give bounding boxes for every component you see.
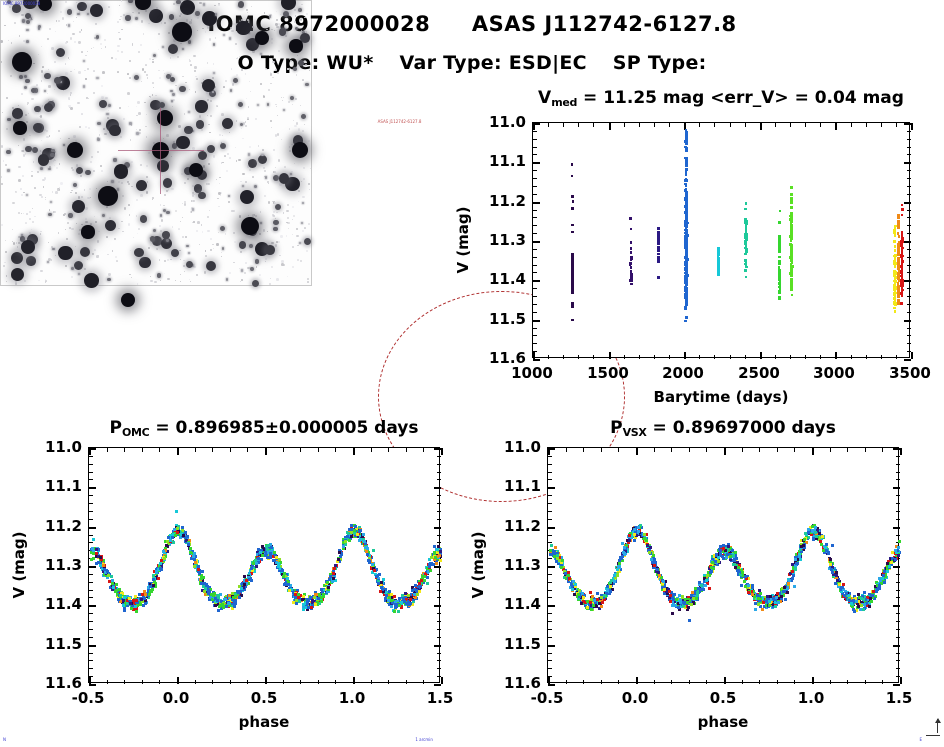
background-noise [221,162,223,164]
background-noise [42,11,44,13]
background-noise [184,271,185,272]
background-noise [276,212,277,213]
background-noise [298,128,300,130]
field-star [213,72,215,74]
background-noise [301,181,302,182]
background-noise [278,159,280,161]
background-noise [240,181,242,183]
background-noise [233,232,234,233]
field-star [166,211,169,214]
background-noise [127,92,130,95]
background-noise [264,12,266,14]
background-noise [141,20,143,22]
field-star [12,108,22,118]
background-noise [181,173,183,175]
background-noise [141,81,142,82]
background-noise [148,23,150,25]
background-noise [249,169,251,171]
background-noise [42,66,44,68]
background-noise [270,73,272,75]
field-star [38,154,49,165]
background-noise [164,73,165,74]
background-noise [23,154,26,157]
field-star [26,194,28,196]
field-star [160,214,163,217]
background-noise [218,206,220,208]
field-star [47,261,49,263]
background-noise [283,212,284,213]
background-noise [178,228,180,230]
background-noise [207,99,209,101]
field-star [58,246,73,261]
background-noise [128,204,130,206]
background-noise [306,13,307,14]
background-noise [287,68,288,69]
background-noise [119,107,121,109]
background-noise [78,71,81,74]
field-star [108,104,111,107]
background-noise [15,191,17,193]
background-noise [307,278,309,280]
field-star [302,202,304,204]
background-noise [130,250,131,251]
background-noise [23,40,25,42]
background-noise [289,128,290,129]
background-noise [121,0,123,2]
background-noise [245,125,247,127]
background-noise [158,33,160,35]
background-noise [123,118,124,119]
background-noise [18,105,19,106]
field-star [223,34,225,36]
background-noise [164,260,166,262]
background-noise [106,236,108,238]
background-noise [46,130,48,132]
background-noise [90,197,91,198]
background-noise [292,246,294,248]
background-noise [33,63,34,64]
field-star [213,43,216,46]
background-noise [161,219,163,221]
background-noise [60,182,62,184]
background-noise [146,165,148,167]
background-noise [118,181,120,183]
background-noise [197,30,198,31]
background-noise [149,58,151,60]
field-star [206,261,216,271]
field-star [85,170,91,176]
background-noise [23,138,25,140]
background-noise [184,203,187,206]
background-noise [180,274,181,275]
background-noise [217,106,218,107]
background-noise [278,23,280,25]
background-noise [101,85,103,87]
background-noise [246,9,247,10]
background-noise [84,268,86,270]
background-noise [154,281,156,283]
field-star [56,48,65,57]
background-noise [152,82,154,84]
background-noise [3,265,5,267]
field-star [293,67,297,71]
background-noise [205,255,207,257]
background-noise [78,196,80,198]
background-noise [216,179,217,180]
field-star [96,35,100,39]
background-noise [183,260,185,262]
background-noise [225,233,227,235]
background-noise [159,259,161,261]
background-noise [199,115,202,118]
background-noise [85,218,87,220]
background-noise [207,216,209,218]
background-noise [212,244,214,246]
background-noise [281,139,282,140]
background-noise [201,129,203,131]
background-noise [298,201,299,202]
background-noise [303,167,305,169]
field-star [301,114,306,119]
background-noise [136,215,138,217]
field-star [7,169,9,171]
background-noise [54,165,55,166]
background-noise [21,14,23,16]
background-noise [45,197,46,198]
field-star [249,244,253,248]
background-noise [277,115,278,116]
field-star [135,17,138,20]
field-star [198,151,207,160]
background-noise [189,89,190,90]
background-noise [124,207,126,209]
field-star [241,269,243,271]
background-noise [68,97,70,99]
background-noise [191,200,192,201]
background-noise [26,213,28,215]
background-noise [235,43,237,45]
background-noise [59,163,61,165]
background-noise [9,6,11,8]
background-noise [76,187,77,188]
background-noise [48,69,49,70]
background-noise [87,68,89,70]
background-noise [132,12,134,14]
background-noise [267,69,268,70]
background-noise [270,278,271,279]
field-star [260,222,262,224]
background-noise [210,249,211,250]
field-star [97,122,100,125]
background-noise [260,83,262,85]
background-noise [4,262,5,263]
background-noise [122,195,124,197]
background-noise [177,56,179,58]
field-star [157,160,169,172]
background-noise [100,43,102,45]
background-noise [286,210,288,212]
background-noise [31,98,33,100]
background-noise [28,113,29,114]
background-noise [51,47,54,50]
background-noise [186,19,188,21]
field-star [238,102,243,107]
background-noise [164,194,166,196]
background-noise [296,74,298,76]
background-noise [118,32,119,33]
background-noise [127,181,128,182]
background-noise [276,26,279,29]
field-star [38,25,41,28]
field-star [283,109,285,111]
background-noise [267,231,269,233]
background-noise [259,233,261,235]
background-noise [128,106,129,107]
background-noise [301,4,303,6]
background-noise [265,261,266,262]
background-noise [269,55,270,56]
background-noise [5,240,6,241]
field-star [195,100,207,112]
background-noise [146,74,148,76]
background-noise [250,91,251,92]
background-noise [152,61,154,63]
background-noise [12,202,14,204]
bright-star [289,39,302,52]
background-noise [34,216,35,217]
field-star [250,267,254,271]
background-noise [247,117,249,119]
background-noise [235,147,236,148]
background-noise [208,124,210,126]
background-noise [48,242,49,243]
background-noise [76,223,77,224]
background-noise [95,221,97,223]
background-noise [275,167,276,168]
background-noise [117,50,119,52]
background-noise [207,230,209,232]
field-star [90,4,103,17]
background-noise [274,30,275,31]
field-star [301,222,303,224]
field-star [96,77,98,79]
background-noise [47,93,48,94]
field-star [71,267,74,270]
background-noise [146,136,147,137]
background-noise [191,211,193,213]
background-noise [172,226,173,227]
background-noise [209,38,211,40]
field-star [252,280,259,286]
background-noise [194,66,196,68]
background-noise [196,230,199,233]
background-noise [207,26,209,28]
background-noise [214,5,215,6]
background-noise [298,190,300,192]
background-noise [218,192,220,194]
background-noise [150,245,151,246]
background-noise [29,218,31,220]
background-noise [20,188,22,190]
background-noise [292,266,294,268]
background-noise [107,254,109,256]
background-noise [175,210,177,212]
background-noise [99,134,101,136]
background-noise [220,195,221,196]
background-noise [271,127,272,128]
background-noise [101,96,103,98]
background-noise [145,126,147,128]
background-noise [287,276,288,277]
background-noise [271,242,273,244]
bright-star [67,142,83,158]
field-star [273,220,278,225]
background-noise [1,183,3,185]
background-noise [167,278,169,280]
background-noise [56,20,57,21]
field-star [242,185,244,187]
background-noise [148,247,150,249]
background-noise [130,139,132,141]
background-noise [120,16,122,18]
background-noise [277,133,279,135]
background-noise [251,6,252,7]
background-noise [138,51,140,53]
background-noise [234,241,236,243]
background-noise [118,228,120,230]
background-noise [94,249,96,251]
background-noise [74,41,76,43]
background-noise [302,79,304,81]
field-star [136,132,138,134]
background-noise [87,51,89,53]
field-star [179,86,185,92]
field-star [283,11,289,17]
field-star [106,113,108,115]
background-noise [73,135,75,137]
background-noise [18,166,20,168]
background-noise [76,17,77,18]
field-star [188,111,190,113]
background-noise [187,178,189,180]
background-noise [196,274,198,276]
background-noise [90,161,92,163]
background-noise [69,59,70,60]
field-star [25,146,32,153]
background-noise [294,21,296,23]
background-noise [80,175,82,177]
background-noise [230,27,232,29]
background-noise [207,115,208,116]
field-star [33,123,42,132]
background-noise [24,280,26,282]
background-noise [255,118,258,121]
background-noise [278,241,280,243]
field-star [134,248,143,257]
background-noise [25,222,27,224]
background-noise [305,64,307,66]
field-star [26,29,28,31]
background-noise [197,221,200,224]
background-noise [87,98,88,99]
background-noise [249,146,252,149]
background-noise [144,102,146,104]
field-star [248,159,257,168]
field-star [162,231,170,239]
background-noise [302,130,304,132]
field-star [11,268,25,282]
background-noise [131,277,132,278]
background-noise [184,113,185,114]
background-noise [150,96,152,98]
background-noise [23,192,25,194]
background-noise [32,208,33,209]
background-noise [264,95,265,96]
background-noise [6,275,7,276]
background-noise [29,135,30,136]
background-noise [207,183,209,185]
background-noise [85,55,86,56]
background-noise [176,19,177,20]
background-noise [206,92,208,94]
field-star [117,188,119,190]
background-noise [308,140,310,142]
background-noise [199,2,202,5]
background-noise [31,175,33,177]
background-noise [21,194,23,196]
background-noise [70,37,72,39]
background-noise [292,219,293,220]
background-noise [159,225,160,226]
background-noise [247,19,249,21]
field-star [24,75,27,78]
background-noise [136,115,138,117]
background-noise [199,244,200,245]
background-noise [163,205,165,207]
background-noise [249,81,250,82]
background-noise [70,107,72,109]
background-noise [71,276,73,278]
background-noise [276,11,277,12]
background-noise [109,217,111,219]
field-star [128,0,133,3]
field-star [11,252,23,264]
field-star [129,122,131,124]
background-noise [65,42,67,44]
background-noise [268,183,269,184]
background-noise [40,150,41,151]
field-star [67,9,72,14]
background-noise [8,40,10,42]
background-noise [292,104,293,105]
background-noise [49,28,51,30]
background-noise [252,176,254,178]
background-noise [256,266,257,267]
background-noise [213,248,214,249]
field-star [74,261,83,270]
background-noise [215,37,216,38]
background-noise [273,215,275,217]
background-noise [239,268,240,269]
background-noise [205,250,207,252]
background-noise [276,278,279,281]
background-noise [37,171,40,174]
background-noise [58,232,59,233]
background-noise [285,35,287,37]
background-noise [271,42,273,44]
background-noise [115,256,117,258]
background-noise [56,167,58,169]
